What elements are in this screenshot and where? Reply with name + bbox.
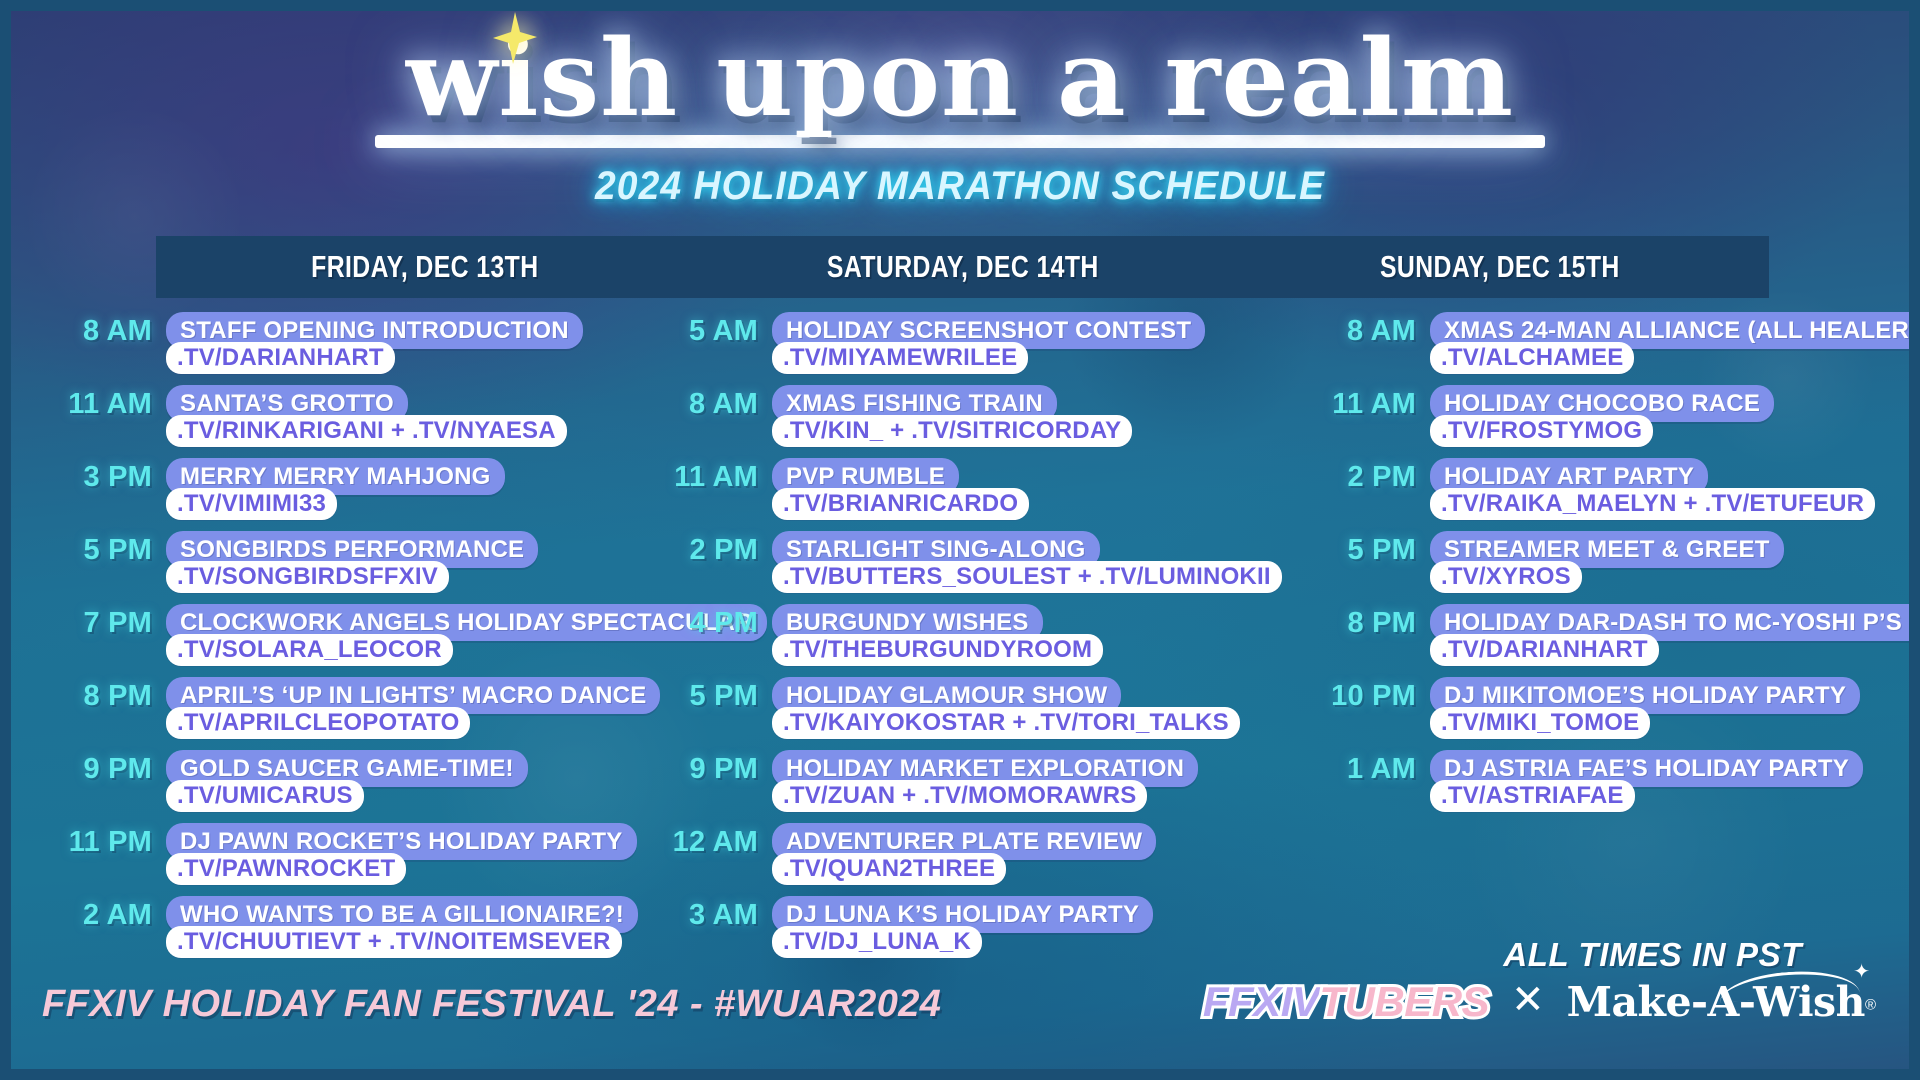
event-handle[interactable]: .TV/VIMIMI33 <box>166 488 337 520</box>
event-time: 8 AM <box>44 312 152 348</box>
event-handle[interactable]: .TV/KAIYOKOSTAR + .TV/TORI_TALKS <box>772 707 1240 739</box>
event-handle[interactable]: .TV/CHUUTIEVT + .TV/NOITEMSEVER <box>166 926 622 958</box>
event-handle[interactable]: .TV/PAWNROCKET <box>166 853 406 885</box>
event-entry: HOLIDAY ART PARTY .TV/RAIKA_MAELYN + .TV… <box>1430 458 1875 520</box>
event-handle[interactable]: .TV/DJ_LUNA_K <box>772 926 982 958</box>
schedule-row: 10 PM DJ MIKITOMOE’S HOLIDAY PARTY .TV/M… <box>1298 677 1920 739</box>
timezone-note: ALL TIMES IN PST <box>1503 936 1802 974</box>
sparkle-star-icon <box>493 12 537 64</box>
poster-header: wish upon a realm 2024 HOLIDAY MARATHON … <box>0 0 1920 209</box>
event-entry: DJ LUNA K’S HOLIDAY PARTY .TV/DJ_LUNA_K <box>772 896 1153 958</box>
schedule-column-friday: 8 AM STAFF OPENING INTRODUCTION .TV/DARI… <box>0 312 640 969</box>
event-handle[interactable]: .TV/ZUAN + .TV/MOMORAWRS <box>772 780 1147 812</box>
event-entry: DJ MIKITOMOE’S HOLIDAY PARTY .TV/MIKI_TO… <box>1430 677 1860 739</box>
schedule-row: 3 AM DJ LUNA K’S HOLIDAY PARTY .TV/DJ_LU… <box>658 896 1280 958</box>
event-handle[interactable]: .TV/DARIANHART <box>1430 634 1659 666</box>
event-entry: HOLIDAY DAR-DASH TO MC-YOSHI P’S FT. STA… <box>1430 604 1920 666</box>
event-handle[interactable]: .TV/QUAN2THREE <box>772 853 1006 885</box>
title-block: wish upon a realm <box>375 22 1545 148</box>
schedule-row: 5 AM HOLIDAY SCREENSHOT CONTEST .TV/MIYA… <box>658 312 1280 374</box>
schedule-row: 2 PM STARLIGHT SING-ALONG .TV/BUTTERS_SO… <box>658 531 1280 593</box>
registered-mark: ® <box>1865 997 1876 1014</box>
schedule-row: 5 PM SONGBIRDS PERFORMANCE .TV/SONGBIRDS… <box>44 531 640 593</box>
event-time: 11 AM <box>44 385 152 421</box>
event-entry: GOLD SAUCER GAME-TIME! .TV/UMICARUS <box>166 750 528 812</box>
event-handle[interactable]: .TV/FROSTYMOG <box>1430 415 1653 447</box>
event-time: 5 PM <box>658 677 758 713</box>
event-handle[interactable]: .TV/RINKARIGANI + .TV/NYAESA <box>166 415 567 447</box>
schedule-row: 5 PM STREAMER MEET & GREET .TV/XYROS <box>1298 531 1920 593</box>
event-tagline: FFXIV HOLIDAY FAN FESTIVAL '24 - #WUAR20… <box>42 983 941 1026</box>
event-entry: PVP RUMBLE .TV/BRIANRICARDO <box>772 458 1029 520</box>
event-time: 2 PM <box>658 531 758 567</box>
wish-star-icon: ✦ <box>1853 959 1870 984</box>
event-handle[interactable]: .TV/BRIANRICARDO <box>772 488 1029 520</box>
event-entry: WHO WANTS TO BE A GILLIONAIRE?! .TV/CHUU… <box>166 896 638 958</box>
event-entry: HOLIDAY GLAMOUR SHOW .TV/KAIYOKOSTAR + .… <box>772 677 1240 739</box>
event-time: 11 AM <box>1298 385 1416 421</box>
day-header-friday: FRIDAY, DEC 13TH <box>210 236 640 298</box>
event-handle[interactable]: .TV/KIN_ + .TV/SITRICORDAY <box>772 415 1132 447</box>
event-handle[interactable]: .TV/ALCHAMEE <box>1430 342 1634 374</box>
schedule-row: 2 PM HOLIDAY ART PARTY .TV/RAIKA_MAELYN … <box>1298 458 1920 520</box>
schedule-row: 8 AM STAFF OPENING INTRODUCTION .TV/DARI… <box>44 312 640 374</box>
schedule-row: 11 PM DJ PAWN ROCKET’S HOLIDAY PARTY .TV… <box>44 823 640 885</box>
event-entry: HOLIDAY SCREENSHOT CONTEST .TV/MIYAMEWRI… <box>772 312 1205 374</box>
event-time: 10 PM <box>1298 677 1416 713</box>
day-header-bar: FRIDAY, DEC 13TH SATURDAY, DEC 14TH SUND… <box>156 236 1769 298</box>
event-entry: XMAS 24-MAN ALLIANCE (ALL HEALER PVP) .T… <box>1430 312 1920 374</box>
event-time: 3 PM <box>44 458 152 494</box>
ffxivtubers-logo-part1: FFXIV <box>1203 978 1320 1025</box>
event-handle[interactable]: .TV/SOLARA_LEOCOR <box>166 634 453 666</box>
event-time: 5 PM <box>1298 531 1416 567</box>
schedule-row: 8 PM HOLIDAY DAR-DASH TO MC-YOSHI P’S FT… <box>1298 604 1920 666</box>
event-entry: ADVENTURER PLATE REVIEW .TV/QUAN2THREE <box>772 823 1156 885</box>
event-time: 9 PM <box>658 750 758 786</box>
event-handle[interactable]: .TV/ASTRIAFAE <box>1430 780 1635 812</box>
schedule-row: 5 PM HOLIDAY GLAMOUR SHOW .TV/KAIYOKOSTA… <box>658 677 1280 739</box>
event-entry: APRIL’S ‘UP IN LIGHTS’ MACRO DANCE .TV/A… <box>166 677 660 739</box>
schedule-row: 9 PM GOLD SAUCER GAME-TIME! .TV/UMICARUS <box>44 750 640 812</box>
event-time: 5 AM <box>658 312 758 348</box>
make-a-wish-logo: Make-A-Wish® ✦ <box>1567 978 1876 1026</box>
schedule-row: 8 AM XMAS 24-MAN ALLIANCE (ALL HEALER PV… <box>1298 312 1920 374</box>
event-handle[interactable]: .TV/UMICARUS <box>166 780 364 812</box>
event-entry: SONGBIRDS PERFORMANCE .TV/SONGBIRDSFFXIV <box>166 531 538 593</box>
event-handle[interactable]: .TV/THEBURGUNDYROOM <box>772 634 1103 666</box>
event-time: 12 AM <box>658 823 758 859</box>
event-time: 11 AM <box>658 458 758 494</box>
ffxivtubers-logo: FFXIVTUBERS <box>1203 978 1489 1026</box>
event-time: 7 PM <box>44 604 152 640</box>
schedule-row: 11 AM PVP RUMBLE .TV/BRIANRICARDO <box>658 458 1280 520</box>
event-entry: STREAMER MEET & GREET .TV/XYROS <box>1430 531 1784 593</box>
event-entry: HOLIDAY CHOCOBO RACE .TV/FROSTYMOG <box>1430 385 1774 447</box>
schedule-row: 4 PM BURGUNDY WISHES .TV/THEBURGUNDYROOM <box>658 604 1280 666</box>
event-handle[interactable]: .TV/SONGBIRDSFFXIV <box>166 561 449 593</box>
schedule-row: 1 AM DJ ASTRIA FAE’S HOLIDAY PARTY .TV/A… <box>1298 750 1920 812</box>
event-entry: SANTA’S GROTTO .TV/RINKARIGANI + .TV/NYA… <box>166 385 567 447</box>
schedule-column-saturday: 5 AM HOLIDAY SCREENSHOT CONTEST .TV/MIYA… <box>640 312 1280 969</box>
event-handle[interactable]: .TV/DARIANHART <box>166 342 395 374</box>
schedule-row: 8 PM APRIL’S ‘UP IN LIGHTS’ MACRO DANCE … <box>44 677 640 739</box>
ffxivtubers-logo-part2: TUBERS <box>1319 978 1489 1025</box>
event-time: 8 PM <box>44 677 152 713</box>
schedule-row: 11 AM HOLIDAY CHOCOBO RACE .TV/FROSTYMOG <box>1298 385 1920 447</box>
event-entry: XMAS FISHING TRAIN .TV/KIN_ + .TV/SITRIC… <box>772 385 1132 447</box>
event-handle[interactable]: .TV/BUTTERS_SOULEST + .TV/LUMINOKII <box>772 561 1282 593</box>
event-time: 8 AM <box>1298 312 1416 348</box>
page-title: wish upon a realm <box>375 22 1545 133</box>
day-header-saturday: SATURDAY, DEC 14TH <box>747 236 1177 298</box>
event-entry: HOLIDAY MARKET EXPLORATION .TV/ZUAN + .T… <box>772 750 1198 812</box>
event-time: 3 AM <box>658 896 758 932</box>
schedule-grid: 8 AM STAFF OPENING INTRODUCTION .TV/DARI… <box>0 312 1920 969</box>
event-time: 11 PM <box>44 823 152 859</box>
schedule-row: 8 AM XMAS FISHING TRAIN .TV/KIN_ + .TV/S… <box>658 385 1280 447</box>
event-handle[interactable]: .TV/XYROS <box>1430 561 1582 593</box>
event-time: 2 PM <box>1298 458 1416 494</box>
schedule-row: 9 PM HOLIDAY MARKET EXPLORATION .TV/ZUAN… <box>658 750 1280 812</box>
event-entry: DJ ASTRIA FAE’S HOLIDAY PARTY .TV/ASTRIA… <box>1430 750 1863 812</box>
event-entry: STARLIGHT SING-ALONG .TV/BUTTERS_SOULEST… <box>772 531 1282 593</box>
event-entry: STAFF OPENING INTRODUCTION .TV/DARIANHAR… <box>166 312 583 374</box>
schedule-row: 2 AM WHO WANTS TO BE A GILLIONAIRE?! .TV… <box>44 896 640 958</box>
event-time: 8 AM <box>658 385 758 421</box>
event-handle[interactable]: .TV/RAIKA_MAELYN + .TV/ETUFEUR <box>1430 488 1875 520</box>
event-time: 5 PM <box>44 531 152 567</box>
schedule-row: 7 PM CLOCKWORK ANGELS HOLIDAY SPECTACULA… <box>44 604 640 666</box>
schedule-row: 11 AM SANTA’S GROTTO .TV/RINKARIGANI + .… <box>44 385 640 447</box>
day-header-sunday: SUNDAY, DEC 15TH <box>1285 236 1715 298</box>
cross-icon: ✕ <box>1511 980 1545 1020</box>
event-entry: DJ PAWN ROCKET’S HOLIDAY PARTY .TV/PAWNR… <box>166 823 637 885</box>
event-time: 8 PM <box>1298 604 1416 640</box>
event-handle[interactable]: .TV/MIKI_TOMOE <box>1430 707 1650 739</box>
event-entry: MERRY MERRY MAHJONG .TV/VIMIMI33 <box>166 458 505 520</box>
footer-logos: FFXIVTUBERS ✕ Make-A-Wish® ✦ <box>1203 978 1876 1026</box>
schedule-row: 12 AM ADVENTURER PLATE REVIEW .TV/QUAN2T… <box>658 823 1280 885</box>
event-time: 2 AM <box>44 896 152 932</box>
event-time: 4 PM <box>658 604 758 640</box>
event-handle[interactable]: .TV/MIYAMEWRILEE <box>772 342 1028 374</box>
schedule-row: 3 PM MERRY MERRY MAHJONG .TV/VIMIMI33 <box>44 458 640 520</box>
schedule-column-sunday: 8 AM XMAS 24-MAN ALLIANCE (ALL HEALER PV… <box>1280 312 1920 969</box>
event-handle[interactable]: .TV/APRILCLEOPOTATO <box>166 707 470 739</box>
event-entry: BURGUNDY WISHES .TV/THEBURGUNDYROOM <box>772 604 1103 666</box>
page-subtitle: 2024 HOLIDAY MARATHON SCHEDULE <box>67 164 1853 209</box>
event-time: 1 AM <box>1298 750 1416 786</box>
event-time: 9 PM <box>44 750 152 786</box>
